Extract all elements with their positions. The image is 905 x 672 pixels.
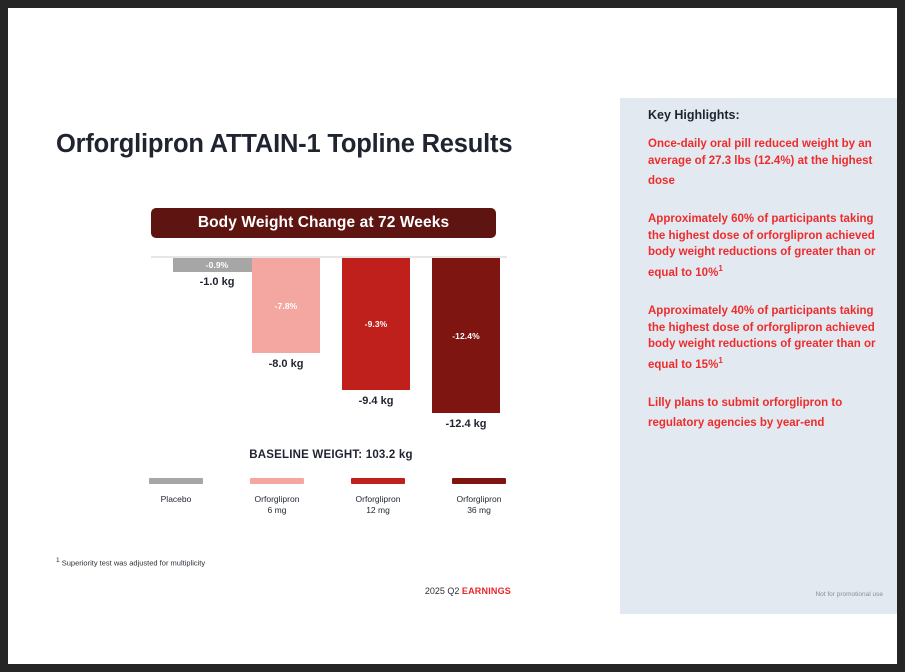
- highlight-item-1: Once-daily oral pill reduced weight by a…: [648, 136, 876, 189]
- legend-label-orforglipron-6mg-dose: 6 mg: [229, 505, 325, 516]
- footnote-text: Superiority test was adjusted for multip…: [62, 559, 205, 568]
- baseline-weight-label: BASELINE WEIGHT: 103.2 kg: [151, 449, 511, 461]
- bar-placebo[interactable]: -0.9%: [173, 258, 261, 272]
- footnote-marker: 1: [56, 557, 60, 564]
- footer-earnings-label: EARNINGS: [462, 586, 511, 596]
- legend-item-orforglipron-6mg[interactable]: Orforglipron 6 mg: [229, 478, 325, 516]
- legend-label-orforglipron-6mg-name: Orforglipron: [229, 494, 325, 505]
- legend-item-placebo[interactable]: Placebo: [128, 478, 224, 505]
- legend-label-orforglipron-36mg-dose: 36 mg: [431, 505, 527, 516]
- footnote: 1 Superiority test was adjusted for mult…: [56, 557, 205, 568]
- bar-orforglipron-36mg[interactable]: -12.4%: [432, 258, 500, 413]
- screenshot-frame: Orforglipron ATTAIN-1 Topline Results Bo…: [0, 0, 905, 672]
- highlight-text-1: Once-daily oral pill reduced weight by a…: [648, 138, 872, 187]
- bar-orforglipron-12mg[interactable]: -9.3%: [342, 258, 410, 390]
- legend-item-orforglipron-12mg[interactable]: Orforglipron 12 mg: [330, 478, 426, 516]
- bar-value-label-orforglipron-36mg: -12.4%: [452, 331, 480, 341]
- legend-swatch-orforglipron-6mg: [250, 478, 304, 484]
- highlight-text-3: Approximately 40% of participants taking…: [648, 305, 875, 370]
- slide-canvas: Orforglipron ATTAIN-1 Topline Results Bo…: [8, 8, 897, 664]
- key-highlights-heading: Key Highlights:: [648, 108, 740, 122]
- legend-label-orforglipron-12mg-name: Orforglipron: [330, 494, 426, 505]
- bar-orforglipron-6mg[interactable]: -7.8%: [252, 258, 320, 353]
- chart-title-label: Body Weight Change at 72 Weeks: [198, 214, 449, 232]
- chart-legend: Placebo Orforglipron 6 mg Orforglipron 1…: [128, 478, 528, 534]
- legend-swatch-orforglipron-12mg: [351, 478, 405, 484]
- bar-kg-label-orforglipron-6mg: -8.0 kg: [252, 358, 320, 370]
- bar-value-label-orforglipron-6mg: -7.8%: [275, 301, 298, 311]
- key-highlights-panel: Key Highlights: Once-daily oral pill red…: [620, 98, 897, 614]
- bar-kg-label-orforglipron-36mg: -12.4 kg: [432, 418, 500, 430]
- legend-label-placebo: Placebo: [128, 494, 224, 505]
- legend-label-orforglipron-12mg-dose: 12 mg: [330, 505, 426, 516]
- highlight-sup-3: 1: [718, 356, 722, 365]
- legend-item-orforglipron-36mg[interactable]: Orforglipron 36 mg: [431, 478, 527, 516]
- slide-footer: 2025 Q2 EARNINGS: [151, 586, 511, 596]
- highlight-sup-2: 1: [718, 264, 722, 273]
- key-highlights-list: Once-daily oral pill reduced weight by a…: [648, 136, 876, 454]
- bar-value-label-placebo: -0.9%: [206, 260, 229, 270]
- legend-swatch-orforglipron-36mg: [452, 478, 506, 484]
- bar-chart-plot-area: -0.9% -1.0 kg -7.8% -8.0 kg -9.3% -9.4 k…: [151, 248, 511, 438]
- bar-kg-label-placebo: -1.0 kg: [173, 276, 261, 288]
- page-title: Orforglipron ATTAIN-1 Topline Results: [56, 130, 512, 159]
- not-for-promotional-use-disclaimer: Not for promotional use: [815, 591, 883, 598]
- highlight-text-2: Approximately 60% of participants taking…: [648, 213, 875, 278]
- footer-period-label: 2025 Q2: [425, 586, 460, 596]
- highlight-item-4: Lilly plans to submit orforglipron to re…: [648, 395, 876, 432]
- highlight-item-2: Approximately 60% of participants taking…: [648, 211, 876, 281]
- bar-kg-label-orforglipron-12mg: -9.4 kg: [342, 395, 410, 407]
- legend-label-orforglipron-36mg-name: Orforglipron: [431, 494, 527, 505]
- bar-value-label-orforglipron-12mg: -9.3%: [365, 319, 388, 329]
- highlight-text-4: Lilly plans to submit orforglipron to re…: [648, 397, 842, 429]
- chart-title-banner: Body Weight Change at 72 Weeks: [151, 208, 496, 238]
- highlight-item-3: Approximately 40% of participants taking…: [648, 303, 876, 373]
- legend-swatch-placebo: [149, 478, 203, 484]
